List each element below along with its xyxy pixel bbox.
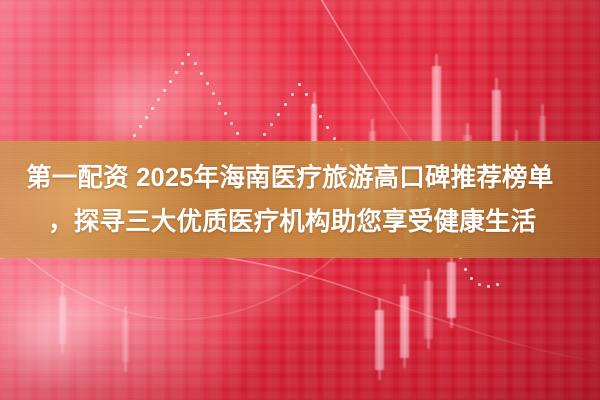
headline-block: 第一配资 2025年海南医疗旅游高口碑推荐榜单 ，探寻三大优质医疗机构助您享受健… [0,141,600,258]
headline-line-1: 第一配资 2025年海南医疗旅游高口碑推荐榜单 [26,156,582,200]
headline-line-2: ，探寻三大优质医疗机构助您享受健康生活 [26,200,582,244]
sweep-arc [0,249,600,362]
promo-banner: 第一配资 2025年海南医疗旅游高口碑推荐榜单 ，探寻三大优质医疗机构助您享受健… [0,0,600,400]
